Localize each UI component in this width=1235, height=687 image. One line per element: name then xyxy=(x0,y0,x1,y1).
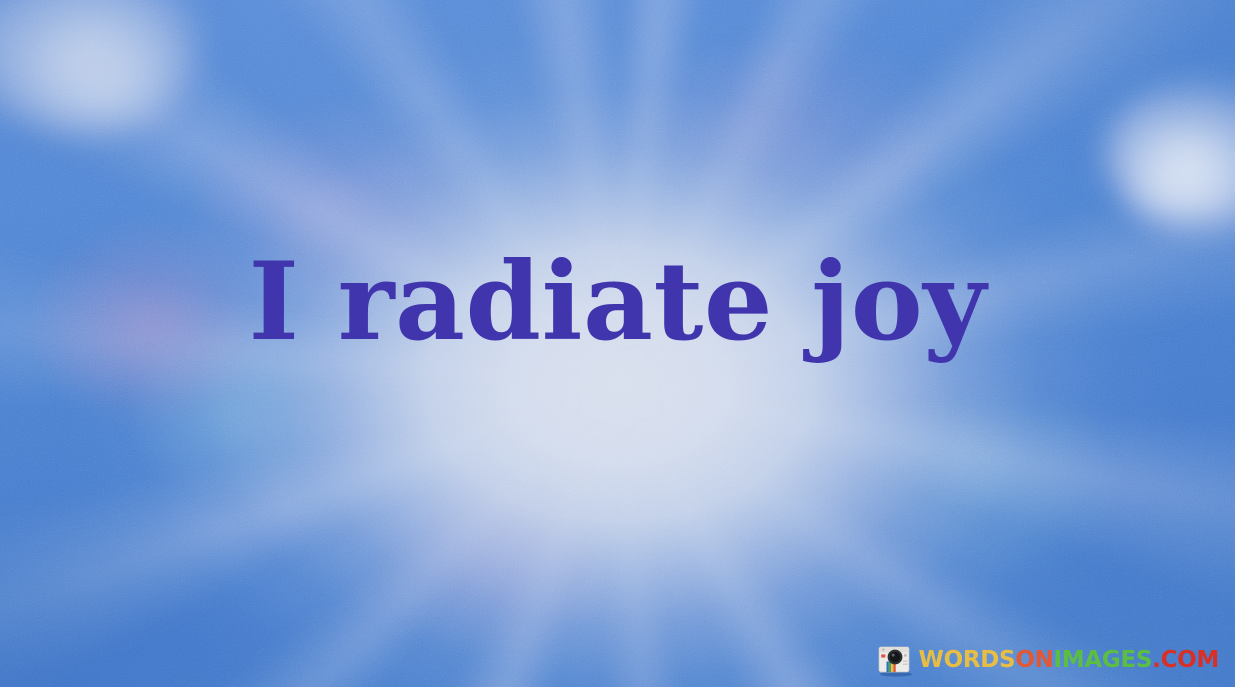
watermark-segment-images: IMAGES xyxy=(1054,649,1153,672)
watermark-segment-com: COM xyxy=(1161,649,1219,672)
quote-text: I radiate joy xyxy=(248,246,986,358)
polaroid-camera-icon xyxy=(874,643,916,677)
watermark-text[interactable]: WORDS ON IMAGES . COM xyxy=(919,649,1219,672)
quote-layer: I radiate joy xyxy=(0,0,1235,687)
watermark-segment-on: ON xyxy=(1015,649,1053,672)
quote-image-canvas: I radiate joy xyxy=(0,0,1235,687)
watermark-segment-words: WORDS xyxy=(919,649,1016,672)
watermark[interactable]: WORDS ON IMAGES . COM xyxy=(874,643,1219,677)
watermark-segment-dot: . xyxy=(1152,649,1160,672)
